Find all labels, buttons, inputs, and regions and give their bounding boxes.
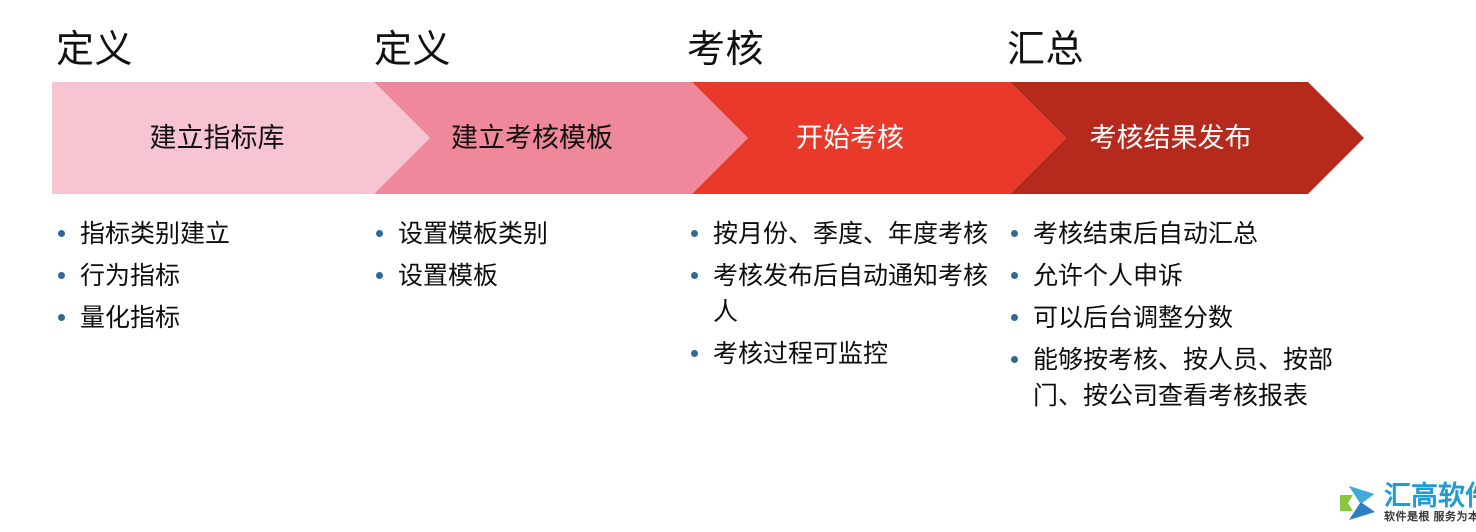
logo-text-block: 汇高软件 软件是根 服务为本: [1384, 482, 1476, 524]
list-item-text: 指标类别建立: [80, 220, 230, 248]
list-item-text: 考核结束后自动汇总: [1033, 220, 1258, 248]
list-item: 按月份、季度、年度考核: [685, 216, 995, 252]
bullet-column-3: 按月份、季度、年度考核 考核发布后自动通知考核人 考核过程可监控: [685, 216, 995, 378]
logo-tagline: 软件是根 服务为本: [1384, 510, 1476, 524]
list-item-text: 设置模板类别: [398, 220, 548, 248]
list-item: 能够按考核、按人员、按部门、按公司查看考核报表: [1005, 342, 1335, 414]
list-item-text: 考核发布后自动通知考核人: [713, 262, 988, 326]
list-item: 考核发布后自动通知考核人: [685, 258, 995, 330]
list-item: 设置模板: [370, 258, 670, 294]
bullet-dot-icon: [58, 314, 65, 321]
list-item-text: 量化指标: [80, 304, 180, 332]
list-item: 可以后台调整分数: [1005, 300, 1335, 336]
bullet-dot-icon: [58, 230, 65, 237]
list-item-text: 设置模板: [398, 262, 498, 290]
list-item: 行为指标: [52, 258, 352, 294]
bullet-column-1: 指标类别建立 行为指标 量化指标: [52, 216, 352, 342]
bullet-column-2: 设置模板类别 设置模板: [370, 216, 670, 300]
list-item: 允许个人申诉: [1005, 258, 1335, 294]
list-item-text: 按月份、季度、年度考核: [713, 220, 988, 248]
chevron-segment-2: [374, 82, 748, 194]
chevron-segment-1: [52, 82, 430, 194]
bullet-column-4: 考核结束后自动汇总 允许个人申诉 可以后台调整分数 能够按考核、按人员、按部门、…: [1005, 216, 1335, 420]
bullet-dot-icon: [1011, 230, 1018, 237]
list-item: 考核过程可监控: [685, 336, 995, 372]
stage-header-3: 考核: [687, 26, 764, 74]
bullet-dot-icon: [691, 230, 698, 237]
list-item: 设置模板类别: [370, 216, 670, 252]
bullet-dot-icon: [1011, 356, 1018, 363]
list-item-text: 允许个人申诉: [1033, 262, 1183, 290]
list-item-text: 可以后台调整分数: [1033, 304, 1233, 332]
bullet-dot-icon: [376, 230, 383, 237]
logo-arrow-icon: [1340, 483, 1382, 523]
list-item: 指标类别建立: [52, 216, 352, 252]
list-item-text: 行为指标: [80, 262, 180, 290]
bullet-dot-icon: [691, 350, 698, 357]
bullet-dot-icon: [376, 272, 383, 279]
chevron-segment-3: [692, 82, 1066, 194]
list-item: 考核结束后自动汇总: [1005, 216, 1335, 252]
list-item-text: 能够按考核、按人员、按部门、按公司查看考核报表: [1033, 346, 1333, 410]
slide-canvas: 定义 定义 考核 汇总 建立指标库 建立考核模板 开始考核 考核结果发布 指标类…: [0, 0, 1476, 532]
list-item-text: 考核过程可监控: [713, 340, 888, 368]
bullet-dot-icon: [1011, 314, 1018, 321]
bullet-dot-icon: [1011, 272, 1018, 279]
process-chevron-band: 建立指标库 建立考核模板 开始考核 考核结果发布: [52, 82, 1364, 194]
stage-header-2: 定义: [374, 26, 451, 74]
list-item: 量化指标: [52, 300, 352, 336]
stage-header-1: 定义: [56, 26, 133, 74]
stage-header-4: 汇总: [1007, 26, 1084, 74]
bullet-dot-icon: [691, 272, 698, 279]
bullet-dot-icon: [58, 272, 65, 279]
company-logo: 汇高软件 软件是根 服务为本: [1340, 474, 1476, 532]
logo-company-name: 汇高软件: [1384, 482, 1476, 510]
